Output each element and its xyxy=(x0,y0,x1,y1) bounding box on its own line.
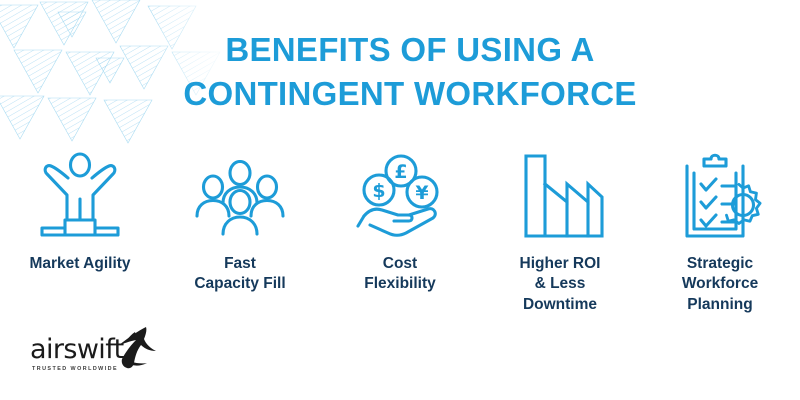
coin-symbol-pound: £ xyxy=(394,161,407,183)
airswift-logo[interactable]: airswift TRUSTED WORLDWIDE xyxy=(30,330,170,382)
benefit-card-higher-roi: Higher ROI & Less Downtime xyxy=(480,148,640,315)
benefit-card-market-agility: Market Agility xyxy=(0,148,160,274)
clipboard-checklist-gear-icon xyxy=(673,152,767,240)
benefit-label: Fast Capacity Fill xyxy=(194,254,285,295)
title-line-2: CONTINGENT WORKFORCE xyxy=(150,72,670,116)
benefit-card-strategic-workforce-planning: Strategic Workforce Planning xyxy=(640,148,800,315)
benefits-row: Market Agility Fast Capacity Fill xyxy=(0,148,800,328)
icon-container xyxy=(673,148,767,240)
coin-symbol-dollar: $ xyxy=(372,180,385,202)
hand-with-coins-icon: £ $ ¥ xyxy=(354,154,446,240)
title-line-1: BENEFITS OF USING A xyxy=(150,28,670,72)
benefit-card-fast-capacity-fill: Fast Capacity Fill xyxy=(160,148,320,295)
icon-container: £ $ ¥ xyxy=(354,148,446,240)
group-of-people-icon xyxy=(192,160,288,240)
icon-container xyxy=(514,148,606,240)
benefit-label: Cost Flexibility xyxy=(364,254,436,295)
icon-container xyxy=(34,148,126,240)
page-title: BENEFITS OF USING A CONTINGENT WORKFORCE xyxy=(150,28,670,116)
benefit-label: Strategic Workforce Planning xyxy=(682,254,758,315)
icon-container xyxy=(192,148,288,240)
benefit-card-cost-flexibility: £ $ ¥ Cost Flexibility xyxy=(320,148,480,295)
factory-icon xyxy=(514,152,606,240)
benefit-label: Higher ROI & Less Downtime xyxy=(520,254,601,315)
podium-winner-icon xyxy=(34,152,126,240)
swift-bird-icon xyxy=(102,324,158,372)
coin-symbol-yen: ¥ xyxy=(415,182,428,204)
benefit-label: Market Agility xyxy=(29,254,130,274)
